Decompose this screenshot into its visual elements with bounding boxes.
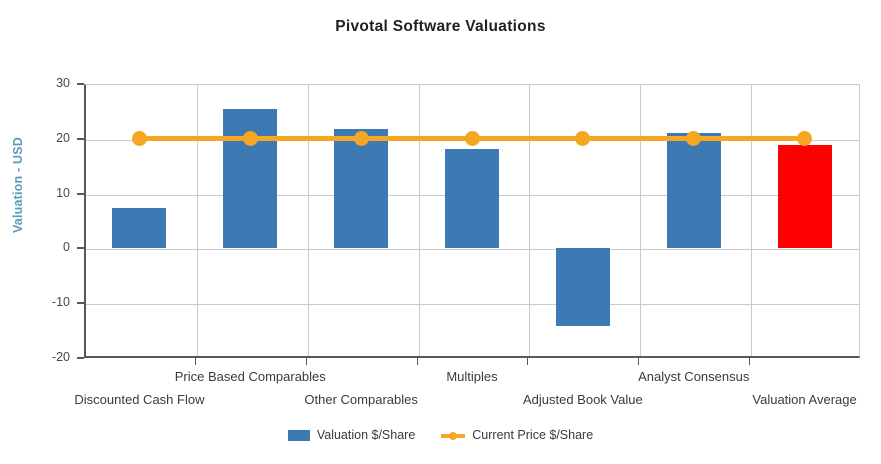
gridline-horizontal [86, 249, 859, 250]
chart-legend: Valuation $/ShareCurrent Price $/Share [0, 428, 881, 442]
gridline-vertical [751, 85, 752, 356]
y-tick-mark [77, 193, 84, 195]
legend-label: Valuation $/Share [317, 428, 415, 442]
current-price-marker[interactable] [354, 131, 369, 146]
y-tick-label: 30 [24, 76, 70, 90]
gridline-vertical [308, 85, 309, 356]
legend-bar-swatch-icon [288, 430, 310, 441]
x-axis-label: Valuation Average [655, 392, 881, 407]
x-tick-mark [527, 358, 528, 365]
y-tick-label: -10 [24, 295, 70, 309]
x-tick-mark [195, 358, 196, 365]
legend-item[interactable]: Current Price $/Share [441, 428, 593, 442]
y-tick-label: 0 [24, 240, 70, 254]
gridline-horizontal [86, 304, 859, 305]
y-tick-mark [77, 247, 84, 249]
bar[interactable] [334, 129, 388, 248]
x-tick-mark [749, 358, 750, 365]
bar[interactable] [223, 109, 277, 248]
gridline-vertical [197, 85, 198, 356]
legend-item[interactable]: Valuation $/Share [288, 428, 415, 442]
gridline-vertical [529, 85, 530, 356]
bar[interactable] [556, 248, 610, 326]
gridline-vertical [419, 85, 420, 356]
current-price-marker[interactable] [243, 131, 258, 146]
y-tick-mark [77, 357, 84, 359]
y-tick-label: -20 [24, 350, 70, 364]
gridline-vertical [640, 85, 641, 356]
current-price-marker[interactable] [465, 131, 480, 146]
y-tick-mark [77, 138, 84, 140]
bar[interactable] [778, 145, 832, 248]
chart-container: Pivotal Software Valuations Valuation - … [0, 0, 881, 464]
legend-label: Current Price $/Share [472, 428, 593, 442]
x-tick-mark [638, 358, 639, 365]
bar[interactable] [445, 149, 499, 249]
x-tick-mark [417, 358, 418, 365]
y-tick-label: 10 [24, 186, 70, 200]
bar[interactable] [112, 208, 166, 248]
y-axis-title: Valuation - USD [11, 115, 25, 255]
y-tick-mark [77, 302, 84, 304]
y-tick-mark [77, 83, 84, 85]
x-tick-mark [306, 358, 307, 365]
legend-line-swatch-icon [441, 430, 465, 441]
x-axis-label: Analyst Consensus [544, 369, 844, 384]
y-tick-label: 20 [24, 131, 70, 145]
chart-title: Pivotal Software Valuations [0, 18, 881, 36]
bar[interactable] [667, 133, 721, 248]
